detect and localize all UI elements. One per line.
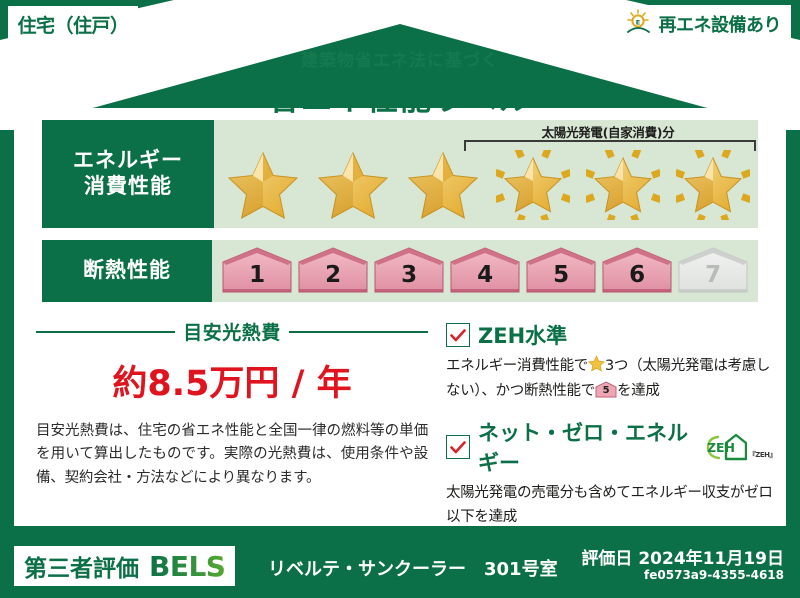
footer-band: 第三者評価 BELS リベルテ・サンクーラー 301号室 評価日 2024年11… xyxy=(0,536,800,598)
star-1 xyxy=(218,146,308,224)
heading-rule-right xyxy=(289,331,428,333)
energy-label-line2: 消費性能 xyxy=(84,174,172,200)
star-6-solar xyxy=(668,146,758,224)
energy-label-line1: エネルギー xyxy=(73,148,183,174)
evaluation-id: fe0573a9-4355-4618 xyxy=(644,568,784,582)
insulation-house-4: 4 xyxy=(448,246,522,296)
star-4-solar xyxy=(488,146,578,224)
bels-certification-badge: 第三者評価 BELS xyxy=(14,546,235,586)
utility-cost-note: 目安光熱費は、住宅の省エネ性能と全国一律の燃料等の単価を用いて算出したものです。… xyxy=(36,420,428,490)
zeh-netzero-title-row: ネット・ゼロ・エネルギー ZEH 『ZEH』 xyxy=(446,417,776,477)
insulation-house-6: 6 xyxy=(600,246,674,296)
zeh-standard-title: ZEH水準 xyxy=(478,320,567,350)
zeh-desc-part-c: を達成 xyxy=(617,383,660,399)
energy-star-rating xyxy=(218,146,758,224)
bels-jp-label: 第三者評価 xyxy=(24,549,139,583)
star-3 xyxy=(398,146,488,224)
utility-cost-heading: 目安光熱費 xyxy=(36,318,428,345)
insulation-performance-label: 断熱性能 xyxy=(42,240,212,302)
svg-text:ZEH: ZEH xyxy=(707,440,735,455)
building-type-badge: 住宅（住戸） xyxy=(8,6,138,42)
house-number: 2 xyxy=(296,246,370,296)
property-name: リベルテ・サンクーラー 301号室 xyxy=(268,555,558,581)
insulation-label-text: 断熱性能 xyxy=(83,258,171,284)
energy-rating-panel: 太陽光発電(自家消費)分 xyxy=(214,120,758,228)
title-main: 省エネ性能ラベル xyxy=(0,74,800,119)
evaluation-date: 評価日 2024年11月19日 xyxy=(581,544,784,569)
title-subtitle: 建築物省エネ法に基づく xyxy=(0,46,800,71)
inline-house-level: 5 xyxy=(595,381,617,398)
insulation-house-2: 2 xyxy=(296,246,370,296)
renewable-equipment-badge: E 再エネ設備あり xyxy=(619,5,792,43)
utility-cost-value: 約8.5万円 / 年 xyxy=(36,355,428,406)
house-number: 4 xyxy=(448,246,522,296)
zeh-logo: ZEH 『ZEH』 xyxy=(705,432,776,462)
energy-performance-row: エネルギー 消費性能 太陽光発電(自家消費)分 xyxy=(42,120,758,228)
zeh-logo-caption: 『ZEH』 xyxy=(749,450,776,462)
checkbox-checked-icon[interactable] xyxy=(446,435,470,459)
energy-performance-label: エネルギー 消費性能 xyxy=(42,120,214,228)
zeh-item-net-zero: ネット・ゼロ・エネルギー ZEH 『ZEH』 太陽光発電の売電分も含めてエネルギ… xyxy=(446,417,776,528)
zeh-criteria-block: ZEH水準 エネルギー消費性能で3つ（太陽光発電は考慮しない）、かつ断熱性能で5… xyxy=(446,320,776,535)
house-number: 1 xyxy=(220,246,294,296)
insulation-house-1: 1 xyxy=(220,246,294,296)
inline-star-icon xyxy=(588,355,605,380)
zeh-standard-title-row: ZEH水準 xyxy=(446,320,776,350)
header-band: 住宅（住戸） E 再エネ設備あり 建築物省エネ法に基づく 省エネ性能ラベル xyxy=(0,0,800,130)
solar-bracket-label: 太陽光発電(自家消費)分 xyxy=(460,122,756,141)
insulation-house-3: 3 xyxy=(372,246,446,296)
inline-house-icon: 5 xyxy=(595,381,617,398)
utility-cost-heading-text: 目安光熱費 xyxy=(183,318,281,345)
lower-section: 目安光熱費 約8.5万円 / 年 目安光熱費は、住宅の省エネ性能と全国一律の燃料… xyxy=(14,318,786,526)
zeh-desc-part-a: エネルギー消費性能で xyxy=(446,358,588,374)
house-number: 6 xyxy=(600,246,674,296)
insulation-rating-panel: 1 2 xyxy=(212,240,758,302)
house-number: 3 xyxy=(372,246,446,296)
label-title: 建築物省エネ法に基づく 省エネ性能ラベル xyxy=(0,46,800,119)
bels-logo-text: BELS xyxy=(149,550,225,583)
insulation-performance-row: 断熱性能 1 xyxy=(42,240,758,302)
zeh-netzero-description: 太陽光発電の売電分も含めてエネルギー収支がゼロ以下を達成 xyxy=(446,482,776,528)
building-type-badge-label: 住宅（住戸） xyxy=(17,11,128,38)
zeh-netzero-title: ネット・ゼロ・エネルギー xyxy=(478,417,693,477)
zeh-item-standard: ZEH水準 エネルギー消費性能で3つ（太陽光発電は考慮しない）、かつ断熱性能で5… xyxy=(446,320,776,403)
utility-cost-block: 目安光熱費 約8.5万円 / 年 目安光熱費は、住宅の省エネ性能と全国一律の燃料… xyxy=(36,318,428,490)
svg-text:E: E xyxy=(635,18,639,26)
heading-rule-left xyxy=(36,331,175,333)
house-number: 7 xyxy=(676,246,750,296)
checkbox-checked-icon[interactable] xyxy=(446,323,470,347)
renewable-equipment-badge-label: 再エネ設備あり xyxy=(659,11,782,37)
insulation-house-7: 7 xyxy=(676,246,750,296)
house-number: 5 xyxy=(524,246,598,296)
star-2 xyxy=(308,146,398,224)
star-5-solar xyxy=(578,146,668,224)
zeh-standard-description: エネルギー消費性能で3つ（太陽光発電は考慮しない）、かつ断熱性能で5を達成 xyxy=(446,355,776,403)
insulation-house-5: 5 xyxy=(524,246,598,296)
solar-sun-icon: E xyxy=(625,8,655,40)
